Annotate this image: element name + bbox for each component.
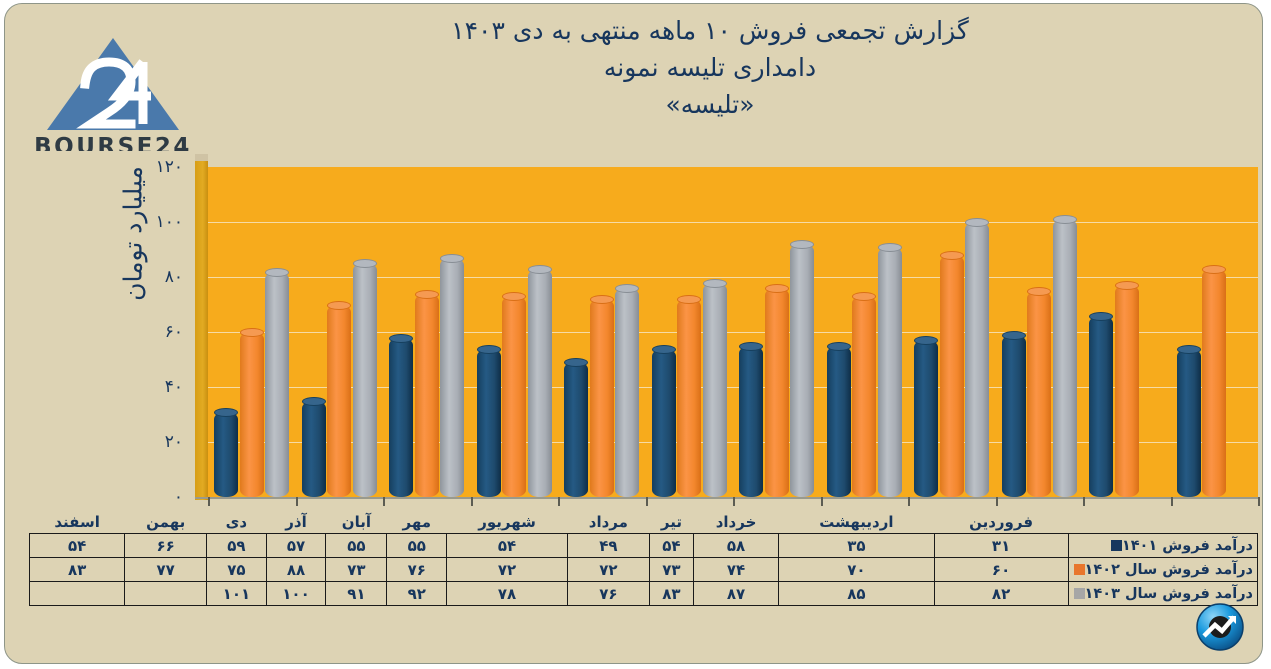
legend-text: درآمد فروش سال ۱۴۰۲: [1085, 562, 1253, 578]
chart-arrow-badge-icon: [1195, 602, 1245, 652]
bar-series-3: [265, 272, 289, 498]
bar-cap: [528, 265, 552, 274]
y-axis-tick-labels: ۱۲۰۱۰۰۸۰۶۰۴۰۲۰۰: [135, 154, 183, 504]
bar-series-3: [528, 269, 552, 497]
bar-series-1: [1089, 316, 1113, 498]
x-tick: [1258, 497, 1260, 506]
y-tick-label: ۶۰: [165, 322, 183, 342]
y-tick-label: ۲۰: [165, 432, 183, 452]
bar-cap: [1202, 265, 1226, 274]
x-tick: [646, 497, 648, 506]
bar-cap: [302, 397, 326, 406]
bar-series-2: [1202, 269, 1226, 497]
y-tick-label: ۱۲۰: [156, 157, 183, 177]
bar-series-2: [765, 288, 789, 497]
y-tick-label: ۸۰: [165, 267, 183, 287]
report-card: BOURSE24 گزارش تجمعی فروش ۱۰ ماهه منتهی …: [4, 3, 1263, 664]
table-cell: ۳۵: [779, 534, 934, 558]
table-cell: ۷۲: [447, 558, 568, 582]
table-cell: ۷۴: [693, 558, 778, 582]
data-table: فروردیناردیبهشتخردادتیرمردادشهریورمهرآبا…: [29, 510, 1258, 606]
bar-series-1: [914, 340, 938, 497]
bar-series-2: [502, 296, 526, 497]
bar-cap: [790, 240, 814, 249]
table-cell: ۹۲: [387, 582, 447, 606]
legend-text: درآمد فروش ۱۴۰۱: [1122, 538, 1253, 554]
bar-cap: [940, 251, 964, 260]
bar-series-2: [1115, 285, 1139, 497]
bar-series-3: [353, 263, 377, 497]
bar-series-1: [652, 349, 676, 498]
table-cell: ۴۹: [567, 534, 649, 558]
table-cell: ۶۶: [125, 534, 207, 558]
x-tick: [1083, 497, 1085, 506]
bar-series-1: [477, 349, 501, 498]
table-cell: ۷۶: [387, 558, 447, 582]
table-row: درآمد فروش ۱۴۰۱۳۱۳۵۵۸۵۴۴۹۵۴۵۵۵۵۵۷۵۹۶۶۵۴: [30, 534, 1258, 558]
table-cell: ۵۹: [207, 534, 267, 558]
table-cell: ۵۴: [649, 534, 693, 558]
table-cell: ۷۰: [779, 558, 934, 582]
bar-cap: [965, 218, 989, 227]
bar-cap: [1027, 287, 1051, 296]
x-tick: [733, 497, 735, 506]
bar-series-1: [1002, 335, 1026, 497]
bar-group: [471, 167, 559, 497]
legend-swatch-icon: [1074, 588, 1085, 599]
bar-series-2: [1027, 291, 1051, 497]
table-cell: ۷۷: [125, 558, 207, 582]
bar-series-3: [878, 247, 902, 497]
bar-cap: [477, 345, 501, 354]
table-corner-cell: [1068, 510, 1257, 534]
table-cell: ۸۳: [30, 558, 125, 582]
bar-cap: [739, 342, 763, 351]
bar-cap: [703, 279, 727, 288]
table-cell: ۷۳: [649, 558, 693, 582]
table-column-header: مرداد: [567, 510, 649, 534]
bar-group: [1171, 167, 1259, 497]
x-tick: [908, 497, 910, 506]
table-column-header: شهریور: [447, 510, 568, 534]
bar-series-2: [240, 332, 264, 497]
bar-group: [908, 167, 996, 497]
table-cell: ۸۵: [779, 582, 934, 606]
bar-series-3: [790, 244, 814, 497]
table-column-header: فروردین: [934, 510, 1068, 534]
bar-cap: [852, 292, 876, 301]
table-column-header: تیر: [649, 510, 693, 534]
bar-group: [733, 167, 821, 497]
table-column-header: خرداد: [693, 510, 778, 534]
bar-cap: [502, 292, 526, 301]
table-cell: ۸۳: [649, 582, 693, 606]
table-cell: ۸۲: [934, 582, 1068, 606]
bar-cap: [440, 254, 464, 263]
legend-swatch-icon: [1111, 540, 1122, 551]
table-column-header: مهر: [387, 510, 447, 534]
bar-cap: [1177, 345, 1201, 354]
bar-group: [821, 167, 909, 497]
table-cell: ۷۳: [326, 558, 387, 582]
bar-cap: [265, 268, 289, 277]
y-tick-label: ۱۰۰: [156, 212, 183, 232]
x-tick: [1171, 497, 1173, 506]
y-tick-label: ۰: [174, 487, 183, 507]
bar-series-1: [1177, 349, 1201, 498]
plot-left-wall: [195, 160, 208, 500]
y-tick-label: ۴۰: [165, 377, 183, 397]
bar-group: [383, 167, 471, 497]
table-header-row: فروردیناردیبهشتخردادتیرمردادشهریورمهرآبا…: [30, 510, 1258, 534]
table-cell: ۱۰۱: [207, 582, 267, 606]
bar-cap: [765, 284, 789, 293]
bar-series-3: [615, 288, 639, 497]
bar-series-3: [703, 283, 727, 498]
x-tick: [821, 497, 823, 506]
table-cell: [30, 582, 125, 606]
bar-series-2: [327, 305, 351, 498]
bar-series-3: [1053, 219, 1077, 497]
x-axis-line: [195, 497, 1258, 499]
bar-cap: [1089, 312, 1113, 321]
table-cell: ۵۷: [266, 534, 326, 558]
bar-group: [208, 167, 296, 497]
bar-cap: [914, 336, 938, 345]
table-cell: ۱۰۰: [266, 582, 326, 606]
table-row: درآمد فروش سال ۱۴۰۳۸۲۸۵۸۷۸۳۷۶۷۸۹۲۹۱۱۰۰۱۰…: [30, 582, 1258, 606]
bar-cap: [214, 408, 238, 417]
x-tick: [296, 497, 298, 506]
bar-cap: [878, 243, 902, 252]
x-tick: [996, 497, 998, 506]
x-tick: [208, 497, 210, 506]
table-column-header: اردیبهشت: [779, 510, 934, 534]
table-cell: ۷۲: [567, 558, 649, 582]
bar-series-1: [389, 338, 413, 498]
bar-series-3: [440, 258, 464, 497]
bar-series-2: [852, 296, 876, 497]
table-cell: ۷۸: [447, 582, 568, 606]
table-row: درآمد فروش سال ۱۴۰۲۶۰۷۰۷۴۷۳۷۲۷۲۷۶۷۳۸۸۷۵۷…: [30, 558, 1258, 582]
bar-series-1: [214, 412, 238, 497]
legend-label-1: درآمد فروش ۱۴۰۱: [1068, 534, 1257, 558]
bar-cap: [1053, 215, 1077, 224]
table-cell: ۸۷: [693, 582, 778, 606]
bar-series-container: [208, 167, 1258, 497]
bar-series-3: [965, 222, 989, 497]
bar-series-2: [677, 299, 701, 497]
table-cell: ۸۸: [266, 558, 326, 582]
bar-cap: [240, 328, 264, 337]
bar-series-2: [415, 294, 439, 498]
bar-cap: [389, 334, 413, 343]
bar-cap: [590, 295, 614, 304]
table-cell: [125, 582, 207, 606]
bar-series-1: [739, 346, 763, 497]
bar-series-1: [302, 401, 326, 497]
table-cell: ۳۱: [934, 534, 1068, 558]
table-column-header: آبان: [326, 510, 387, 534]
bar-cap: [564, 358, 588, 367]
table-cell: ۵۵: [387, 534, 447, 558]
legend-label-2: درآمد فروش سال ۱۴۰۲: [1068, 558, 1257, 582]
table-column-header: بهمن: [125, 510, 207, 534]
table-cell: ۷۵: [207, 558, 267, 582]
bar-group: [646, 167, 734, 497]
table-column-header: دی: [207, 510, 267, 534]
legend-swatch-icon: [1074, 564, 1085, 575]
bar-series-2: [590, 299, 614, 497]
bar-cap: [327, 301, 351, 310]
bar-group: [1083, 167, 1171, 497]
table-column-header: اسفند: [30, 510, 125, 534]
table-cell: ۵۸: [693, 534, 778, 558]
x-tick: [383, 497, 385, 506]
table-cell: ۵۵: [326, 534, 387, 558]
table-cell: ۶۰: [934, 558, 1068, 582]
bar-cap: [677, 295, 701, 304]
table-cell: ۵۴: [447, 534, 568, 558]
table-column-header: آذر: [266, 510, 326, 534]
table-cell: ۹۱: [326, 582, 387, 606]
bar-cap: [1115, 281, 1139, 290]
legend-text: درآمد فروش سال ۱۴۰۳: [1085, 586, 1253, 602]
bar-group: [558, 167, 646, 497]
bar-cap: [652, 345, 676, 354]
bar-group: [296, 167, 384, 497]
bar-cap: [615, 284, 639, 293]
table-cell: ۷۶: [567, 582, 649, 606]
x-tick: [558, 497, 560, 506]
bar-series-2: [940, 255, 964, 497]
bar-cap: [1002, 331, 1026, 340]
x-tick: [471, 497, 473, 506]
bar-series-1: [564, 362, 588, 497]
bar-cap: [827, 342, 851, 351]
bar-group: [996, 167, 1084, 497]
bar-cap: [415, 290, 439, 299]
table-cell: ۵۴: [30, 534, 125, 558]
bar-series-1: [827, 346, 851, 497]
bar-cap: [353, 259, 377, 268]
